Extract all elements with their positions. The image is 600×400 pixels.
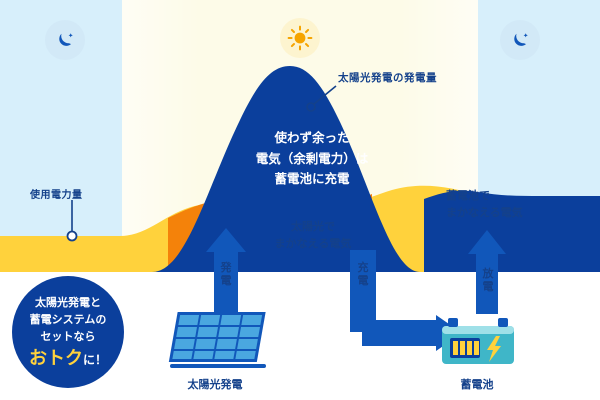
arrow-label-charge-c2: 電	[356, 275, 370, 288]
solar-generation-label: 太陽光発電の発電量	[338, 70, 437, 85]
moon-icon	[500, 20, 540, 60]
arrow-label-charge-c1: 充	[356, 262, 370, 275]
generation-leader-dot	[307, 103, 315, 111]
solar-power-line-1: 太陽光で	[258, 219, 368, 236]
promo-line-1: 太陽光発電と	[35, 295, 101, 312]
solar-power-label: 太陽光で まかなえる電気	[258, 219, 368, 252]
surplus-line-2: 電気（余剰電力）は	[232, 149, 392, 170]
solar-panel-icon	[168, 310, 272, 372]
arrow-label-discharge-c2: 電	[481, 281, 495, 294]
surplus-line-1: 使わず余った	[232, 128, 392, 149]
arrow-label-discharge: 放 電	[481, 268, 495, 293]
storage-battery-icon	[440, 318, 516, 370]
caption-solar-panel: 太陽光発電	[160, 376, 270, 392]
promo-badge: 太陽光発電と 蓄電システムの セットなら おトクに！	[12, 276, 124, 388]
promo-line-3: セットなら	[41, 329, 96, 346]
usage-leader-dot	[68, 232, 77, 241]
arrow-label-generate-c1: 発	[219, 262, 233, 275]
usage-label: 使用電力量	[30, 186, 83, 201]
solar-power-line-2: まかなえる電気	[258, 236, 368, 253]
battery-power-label: 蓄電池で まかなえる電気	[446, 188, 566, 221]
surplus-line-3: 蓄電池に充電	[232, 169, 392, 190]
arrow-label-discharge-c1: 放	[481, 268, 495, 281]
promo-line-2: 蓄電システムの	[30, 312, 107, 329]
battery-power-line-2: まかなえる電気	[446, 205, 566, 222]
arrow-label-generate-c2: 電	[219, 275, 233, 288]
promo-line-4: おトクに！	[29, 348, 107, 370]
arrow-label-generate: 発 電	[219, 262, 233, 287]
diagram-canvas: 使用電力量 太陽光発電の発電量 使わず余った 電気（余剰電力）は 蓄電池に充電 …	[0, 0, 600, 400]
battery-power-line-1: 蓄電池で	[446, 188, 566, 205]
moon-icon	[45, 20, 85, 60]
caption-battery: 蓄電池	[437, 376, 517, 392]
arrow-label-charge: 充 電	[356, 262, 370, 287]
sun-icon	[280, 18, 320, 58]
promo-highlight: おトク	[29, 348, 83, 368]
surplus-charge-text: 使わず余った 電気（余剰電力）は 蓄電池に充電	[232, 128, 392, 190]
promo-tail: に！	[83, 353, 107, 367]
